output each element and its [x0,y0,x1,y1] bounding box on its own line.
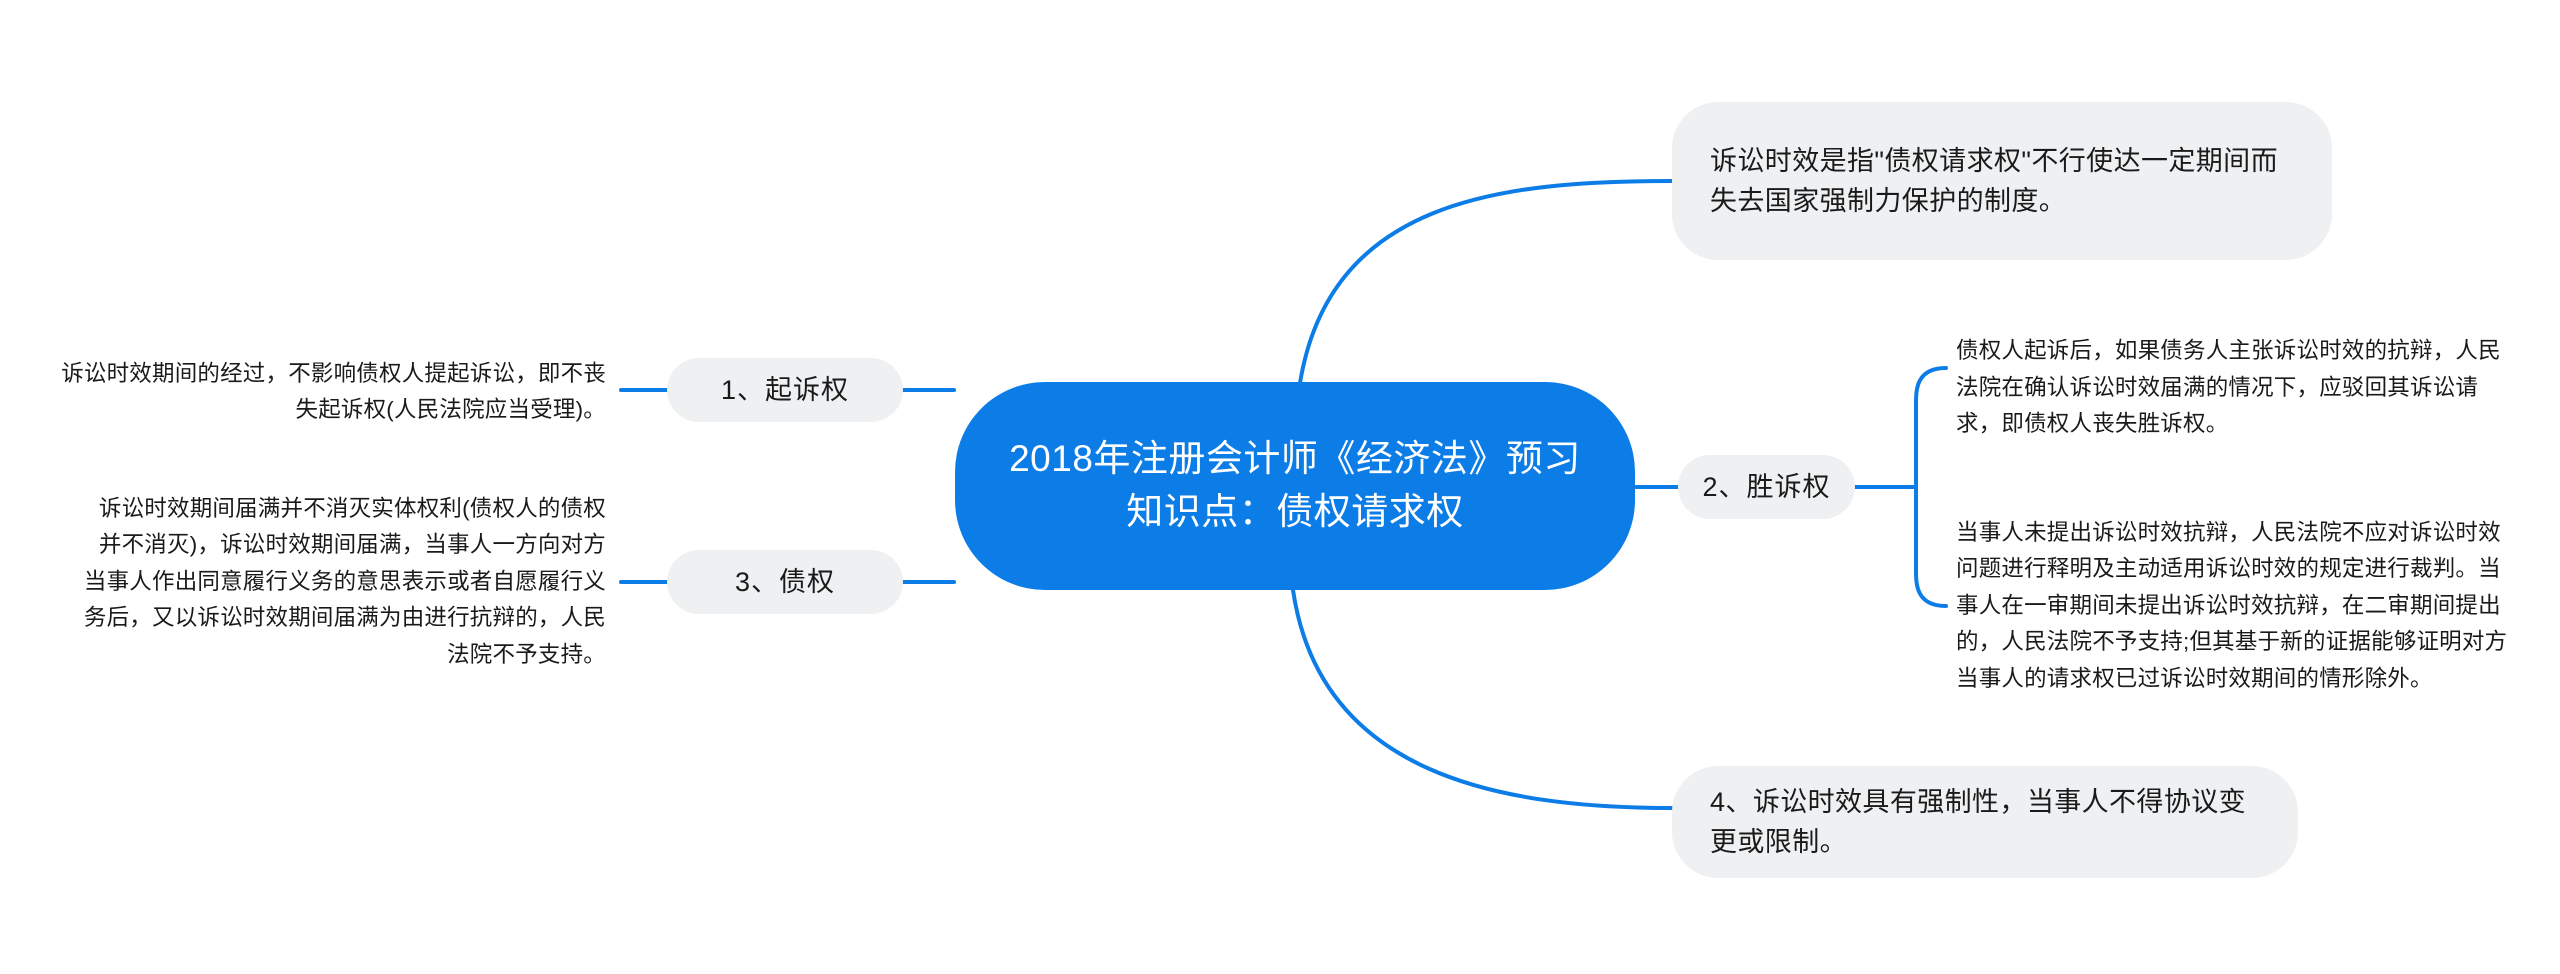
node-right-to-sue-label: 1、起诉权 [721,372,849,408]
node-creditor-right-label: 3、债权 [735,564,835,600]
node-win-suit-right-label: 2、胜诉权 [1702,469,1830,505]
detail-win-suit-2-text: 当事人未提出诉讼时效抗辩，人民法院不应对诉讼时效问题进行释明及主动适用诉讼时效的… [1956,515,2518,697]
node-top-right-definition[interactable]: 诉讼时效是指"债权请求权"不行使达一定期间而失去国家强制力保护的制度。 [1672,102,2332,260]
connector-center-to-bottom-right [1293,590,1672,808]
node-right-to-sue[interactable]: 1、起诉权 [667,358,903,422]
detail-creditor-right: 诉讼时效期间届满并不消灭实体权利(债权人的债权并不消灭)，诉讼时效期间届满，当事… [80,485,606,679]
node-bottom-right-mandatory[interactable]: 4、诉讼时效具有强制性，当事人不得协议变更或限制。 [1672,766,2298,878]
node-bottom-right-mandatory-label: 4、诉讼时效具有强制性，当事人不得协议变更或限制。 [1710,782,2260,863]
center-node[interactable]: 2018年注册会计师《经济法》预习知识点：债权请求权 [955,382,1635,590]
detail-right-to-sue-text: 诉讼时效期间的经过，不影响债权人提起诉讼，即不丧失起诉权(人民法院应当受理)。 [60,356,606,429]
connector-center-to-top-right [1300,181,1672,383]
detail-right-to-sue: 诉讼时效期间的经过，不影响债权人提起诉讼，即不丧失起诉权(人民法院应当受理)。 [60,352,606,432]
mind-map-canvas: 2018年注册会计师《经济法》预习知识点：债权请求权 诉讼时效是指"债权请求权"… [0,0,2560,974]
center-node-label: 2018年注册会计师《经济法》预习知识点：债权请求权 [1001,433,1589,538]
bracket-right [1916,368,1946,606]
detail-creditor-right-text: 诉讼时效期间届满并不消灭实体权利(债权人的债权并不消灭)，诉讼时效期间届满，当事… [80,491,606,673]
detail-win-suit-2: 当事人未提出诉讼时效抗辩，人民法院不应对诉讼时效问题进行释明及主动适用诉讼时效的… [1956,496,2518,716]
detail-win-suit-1: 债权人起诉后，如果债务人主张诉讼时效的抗辩，人民法院在确认诉讼时效届满的情况下，… [1956,328,2518,448]
node-top-right-definition-label: 诉讼时效是指"债权请求权"不行使达一定期间而失去国家强制力保护的制度。 [1710,141,2294,222]
node-creditor-right[interactable]: 3、债权 [667,550,903,614]
node-win-suit-right[interactable]: 2、胜诉权 [1678,455,1855,519]
detail-win-suit-1-text: 债权人起诉后，如果债务人主张诉讼时效的抗辩，人民法院在确认诉讼时效届满的情况下，… [1956,333,2518,442]
